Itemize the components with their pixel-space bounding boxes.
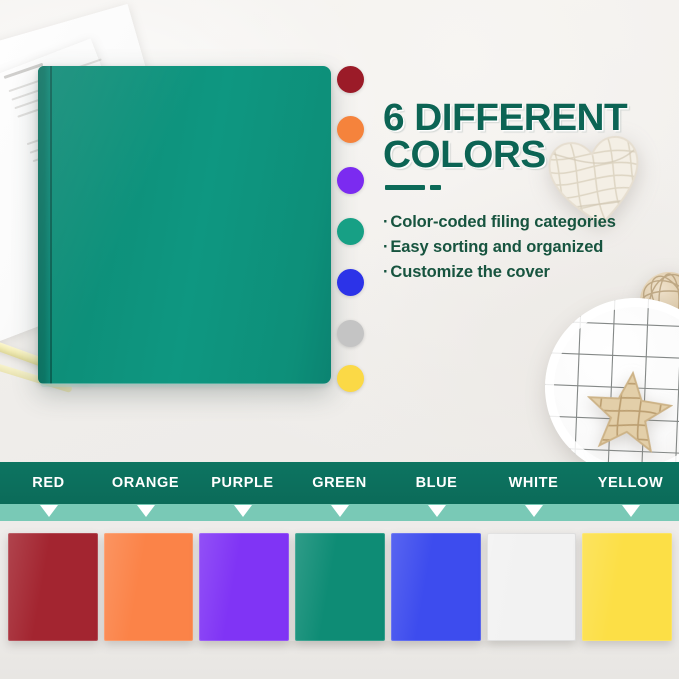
triangle-down-icon [622,505,640,517]
swatch-gloss [391,533,481,641]
color-dot-purple [337,167,364,194]
swatch-yellow[interactable] [582,533,672,641]
triangle-down-icon [137,505,155,517]
divider-long-dash [385,185,425,190]
color-label-red: RED [0,462,97,504]
swatch-white[interactable] [487,533,577,641]
swatch-gloss [104,533,194,641]
binder-spine [38,66,50,384]
swatch-green[interactable] [295,533,385,641]
swatch-list [8,533,672,641]
marketing-text-block: 6 DIFFERENT COLORS ·Color-coded filing c… [383,100,673,285]
feature-text: Easy sorting and organized [390,238,603,256]
feature-text: Customize the cover [390,263,549,281]
swatch-blue[interactable] [391,533,481,641]
feature-item: ·Customize the cover [383,260,673,285]
color-label-green: GREEN [291,462,388,504]
color-label-row: RED ORANGE PURPLE GREEN BLUE WHITE YELLO… [0,462,679,504]
swatch-red[interactable] [8,533,98,641]
binder-sheen [38,66,331,384]
arrow-cell-purple [194,504,291,521]
swatch-drop-shadow [0,641,679,667]
arrow-cell-red [0,504,97,521]
triangle-down-icon [234,505,252,517]
arrow-cell-yellow [582,504,679,521]
swatch-gloss [487,533,577,641]
swatch-gloss [295,533,385,641]
color-label-white: WHITE [485,462,582,504]
arrow-cell-orange [97,504,194,521]
feature-item: ·Color-coded filing categories [383,210,673,235]
swatch-orange[interactable] [104,533,194,641]
triangle-down-icon [525,505,543,517]
binder-cover [38,66,331,384]
color-dot-list [337,66,367,391]
color-dot-yellow [337,365,364,392]
bullet-dot-icon: · [383,263,388,281]
rattan-star-icon [582,366,676,457]
color-dot-red [337,66,364,93]
title-divider [385,185,673,190]
feature-text: Color-coded filing categories [390,213,615,231]
triangle-down-icon [331,505,349,517]
page-title: 6 DIFFERENT COLORS [383,100,679,174]
swatch-gloss [8,533,98,641]
feature-item: ·Easy sorting and organized [383,235,673,260]
bullet-dot-icon: · [383,213,388,231]
product-scene: 6 DIFFERENT COLORS ·Color-coded filing c… [0,0,679,462]
swatch-section [0,521,679,679]
color-arrow-row [0,504,679,521]
binder-spine-crease [50,66,52,384]
infographic-canvas: 6 DIFFERENT COLORS ·Color-coded filing c… [0,0,679,679]
binder-bottom-edge [40,383,329,387]
color-dot-blue [337,269,364,296]
color-label-orange: ORANGE [97,462,194,504]
swatch-gloss [199,533,289,641]
color-label-blue: BLUE [388,462,485,504]
color-dot-green [337,218,364,245]
binder-product [38,66,331,384]
bullet-dot-icon: · [383,238,388,256]
arrow-cell-green [291,504,388,521]
color-label-purple: PURPLE [194,462,291,504]
triangle-down-icon [428,505,446,517]
color-dot-orange [337,116,364,143]
color-dot-white [337,320,364,347]
feature-list: ·Color-coded filing categories ·Easy sor… [383,210,673,285]
triangle-down-icon [40,505,58,517]
swatch-purple[interactable] [199,533,289,641]
divider-short-dash [430,185,441,190]
swatch-gloss [582,533,672,641]
arrow-cell-blue [388,504,485,521]
color-label-yellow: YELLOW [582,462,679,504]
arrow-cell-white [485,504,582,521]
